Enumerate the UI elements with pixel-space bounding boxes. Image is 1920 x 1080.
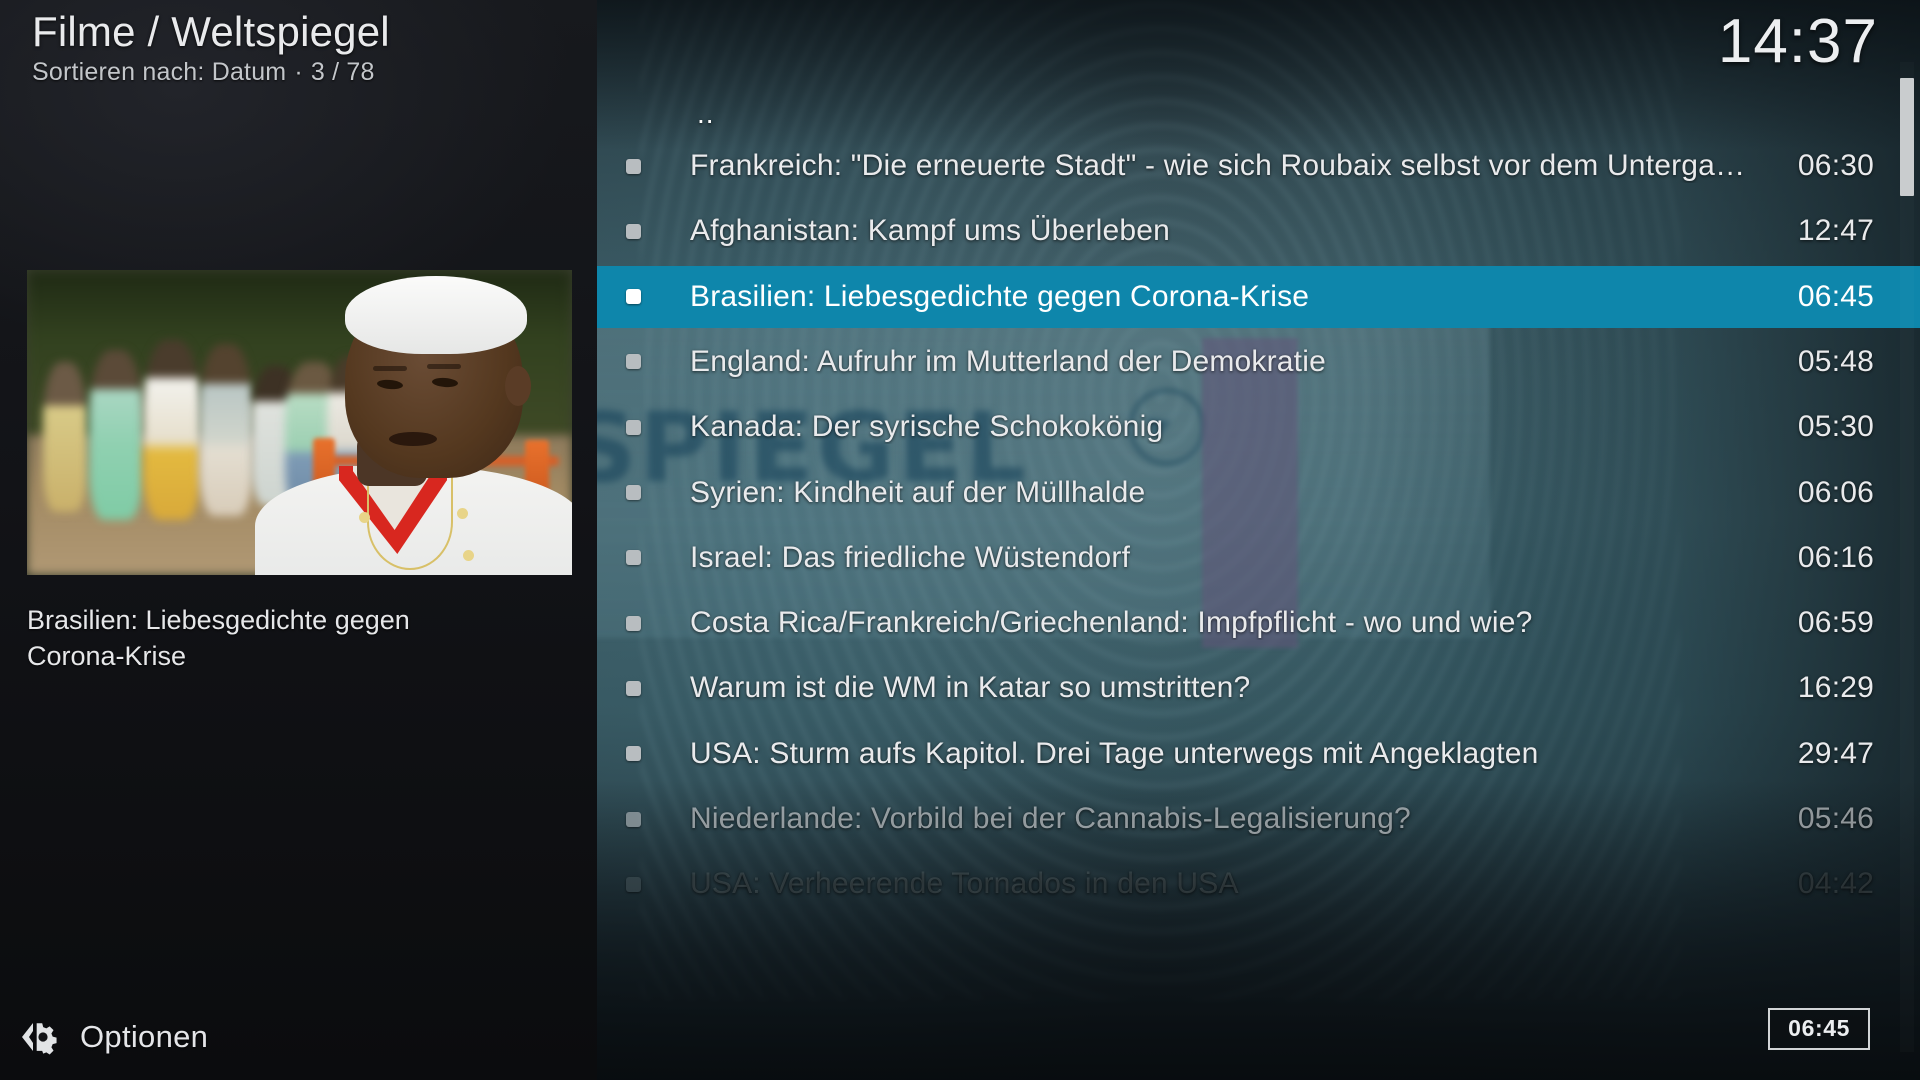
- thumbnail-image: [27, 270, 572, 575]
- separator-dot: ·: [294, 58, 303, 86]
- list-item-duration: 05:46: [1778, 802, 1874, 836]
- video-bullet-icon: [626, 746, 641, 761]
- options-label: Optionen: [80, 1019, 208, 1055]
- list-item[interactable]: USA: Verheerende Tornados in den USA04:4…: [597, 853, 1920, 915]
- list-item-title: Syrien: Kindheit auf der Müllhalde: [690, 476, 1760, 510]
- video-bullet-icon: [626, 616, 641, 631]
- list-item-title: Israel: Das friedliche Wüstendorf: [690, 541, 1760, 575]
- list-item[interactable]: Frankreich: "Die erneuerte Stadt" - wie …: [597, 135, 1920, 197]
- list-scrollbar[interactable]: [1900, 62, 1914, 1052]
- info-panel: Filme / Weltspiegel Sortieren nach: Datu…: [0, 0, 597, 1080]
- parent-directory-item[interactable]: ..: [697, 98, 715, 130]
- list-item-title: USA: Verheerende Tornados in den USA: [690, 867, 1760, 901]
- panel-header: Filme / Weltspiegel Sortieren nach: Datu…: [32, 8, 577, 87]
- list-item[interactable]: England: Aufruhr im Mutterland der Demok…: [597, 331, 1920, 393]
- list-item-duration: 06:06: [1778, 476, 1874, 510]
- list-item-duration: 06:16: [1778, 541, 1874, 575]
- sort-label: Sortieren nach: Datum: [32, 58, 286, 86]
- list-item-duration: 06:59: [1778, 606, 1874, 640]
- list-item-title: USA: Sturm aufs Kapitol. Drei Tage unter…: [690, 737, 1760, 771]
- list-item[interactable]: USA: Sturm aufs Kapitol. Drei Tage unter…: [597, 723, 1920, 785]
- video-bullet-icon: [626, 159, 641, 174]
- video-bullet-icon: [626, 485, 641, 500]
- list-item[interactable]: Syrien: Kindheit auf der Müllhalde06:06: [597, 462, 1920, 524]
- options-gear-chevron-icon: [16, 1015, 60, 1059]
- list-item-duration: 16:29: [1778, 671, 1874, 705]
- scrollbar-thumb[interactable]: [1900, 78, 1914, 196]
- list-item-title: Costa Rica/Frankreich/Griechenland: Impf…: [690, 606, 1760, 640]
- list-item[interactable]: Niederlande: Vorbild bei der Cannabis-Le…: [597, 788, 1920, 850]
- video-bullet-icon: [626, 420, 641, 435]
- list-item-duration: 05:48: [1778, 345, 1874, 379]
- list-item[interactable]: Warum ist die WM in Katar so umstritten?…: [597, 657, 1920, 719]
- video-bullet-icon: [626, 681, 641, 696]
- list-item-title: Kanada: Der syrische Schokokönig: [690, 410, 1760, 444]
- item-position: 3 / 78: [311, 58, 375, 86]
- list-item-title: Frankreich: "Die erneuerte Stadt" - wie …: [690, 149, 1760, 183]
- list-item-title: Warum ist die WM in Katar so umstritten?: [690, 671, 1760, 705]
- list-item[interactable]: Costa Rica/Frankreich/Griechenland: Impf…: [597, 592, 1920, 654]
- list-item-title: Niederlande: Vorbild bei der Cannabis-Le…: [690, 802, 1760, 836]
- duration-badge: 06:45: [1768, 1008, 1870, 1050]
- list-item-duration: 29:47: [1778, 737, 1874, 771]
- options-button[interactable]: Optionen: [0, 994, 597, 1080]
- video-bullet-icon: [626, 354, 641, 369]
- sort-and-position: Sortieren nach: Datum·3 / 78: [32, 58, 577, 87]
- list-item-title: Afghanistan: Kampf ums Überleben: [690, 214, 1760, 248]
- list-item-duration: 06:45: [1778, 280, 1874, 314]
- list-item-title: England: Aufruhr im Mutterland der Demok…: [690, 345, 1760, 379]
- list-item[interactable]: Israel: Das friedliche Wüstendorf06:16: [597, 527, 1920, 589]
- kodi-video-list-screen: TSPIEGEL 14:37 Filme / Weltspiegel Sorti…: [0, 0, 1920, 1080]
- list-item[interactable]: Afghanistan: Kampf ums Überleben12:47: [597, 200, 1920, 262]
- list-item-duration: 06:30: [1778, 149, 1874, 183]
- video-list[interactable]: .. Frankreich: "Die erneuerte Stadt" - w…: [597, 0, 1920, 1080]
- list-item-duration: 05:30: [1778, 410, 1874, 444]
- video-bullet-icon: [626, 289, 641, 304]
- video-bullet-icon: [626, 877, 641, 892]
- list-item-selected[interactable]: Brasilien: Liebesgedichte gegen Corona-K…: [597, 266, 1920, 328]
- list-item-duration: 12:47: [1778, 214, 1874, 248]
- page-title: Filme / Weltspiegel: [32, 8, 577, 56]
- list-item-duration: 04:42: [1778, 867, 1874, 901]
- thumbnail-caption: Brasilien: Liebesgedichte gegen Corona-K…: [27, 602, 507, 675]
- video-bullet-icon: [626, 224, 641, 239]
- video-bullet-icon: [626, 550, 641, 565]
- list-item-title: Brasilien: Liebesgedichte gegen Corona-K…: [690, 280, 1760, 314]
- list-item[interactable]: Kanada: Der syrische Schokokönig05:30: [597, 396, 1920, 458]
- video-bullet-icon: [626, 812, 641, 827]
- thumbnail: [27, 270, 572, 575]
